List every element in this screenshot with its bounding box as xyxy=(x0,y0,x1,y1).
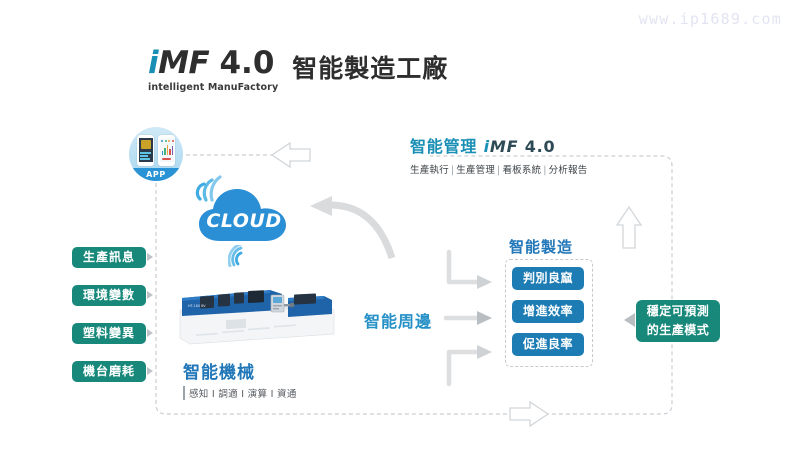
smart-management-title-cn: 智能管理 xyxy=(410,137,477,156)
phone-left-screen xyxy=(139,138,153,162)
input-arrow-2-icon xyxy=(147,329,153,337)
input-arrow-1-icon xyxy=(147,291,153,299)
input-chip-1[interactable]: 環境變數 xyxy=(72,285,146,306)
curved-arrow-to-cloud-head xyxy=(310,196,332,216)
smart-peripheral-label: 智能周邊 xyxy=(364,308,432,332)
smart-machine-caption: 智能機械 感知 I 調適 I 演算 I 資通 xyxy=(183,358,297,400)
gray-elbow-arrow-top-head xyxy=(477,275,492,289)
watermark-text: www.ip1689.com xyxy=(639,10,782,28)
wifi-signal-icon-middle xyxy=(228,245,254,267)
smart-manufacturing-title: 智能製造 xyxy=(509,236,573,257)
imf-logo-mf: MF xyxy=(158,45,209,81)
phone-left-icon xyxy=(137,135,154,166)
manufacturing-item-1[interactable]: 增進效率 xyxy=(512,300,584,323)
injection-molding-machine-icon: HT-180 BV xyxy=(172,274,338,349)
output-chip[interactable]: 穩定可預測 的生產模式 xyxy=(636,300,720,342)
app-label: APP xyxy=(129,168,183,181)
hollow-arrow-right-bottom xyxy=(510,402,548,426)
imf-logo-i: i xyxy=(148,45,158,81)
gray-elbow-arrow-bottom-head xyxy=(477,345,492,359)
smart-management-items: 生產執行|生產管理|看板系統|分析報告 xyxy=(410,162,587,176)
curved-arrow-to-cloud-tail xyxy=(330,205,392,258)
infographic-canvas: www.ip1689.com iMF 4.0 intelligent ManuF… xyxy=(0,0,800,456)
smart-machine-subtitle: 感知 I 調適 I 演算 I 資通 xyxy=(183,386,297,400)
input-arrow-3-icon xyxy=(147,367,153,375)
mgmt-logo-mf: MF xyxy=(490,137,518,156)
hollow-arrow-left-top xyxy=(272,143,310,167)
smart-management-block: 智能管理 iMF 4.0 生產執行|生產管理|看板系統|分析報告 xyxy=(410,133,587,176)
phone-right-screen xyxy=(160,138,174,162)
imf-logo: iMF 4.0 intelligent ManuFactory xyxy=(148,48,278,93)
page-title: 智能製造工廠 xyxy=(292,49,448,85)
svg-text:HT-180 BV: HT-180 BV xyxy=(188,304,206,308)
gray-elbow-arrow-bottom xyxy=(449,352,479,384)
cloud-node[interactable]: CLOUD xyxy=(196,186,292,246)
input-chip-2[interactable]: 塑料變異 xyxy=(72,323,146,344)
mgmt-item-0: 生產執行 xyxy=(410,165,449,176)
cloud-label: CLOUD xyxy=(196,210,292,232)
smart-management-title: 智能管理 iMF 4.0 xyxy=(410,133,587,157)
input-arrow-0-icon xyxy=(147,253,153,261)
mgmt-item-2: 看板系統 xyxy=(502,165,541,176)
output-arrow-icon xyxy=(624,313,635,327)
input-chip-3[interactable]: 機台磨耗 xyxy=(72,361,146,382)
manufacturing-item-2[interactable]: 促進良率 xyxy=(512,333,584,356)
hollow-arrow-up-right xyxy=(617,207,641,248)
phone-right-icon xyxy=(158,135,175,166)
app-node[interactable]: APP xyxy=(129,127,183,181)
input-chip-0[interactable]: 生產訊息 xyxy=(72,247,146,268)
mgmt-item-3: 分析報告 xyxy=(549,165,588,176)
imf-logo-version: 4.0 xyxy=(219,45,274,81)
mgmt-item-1: 生產管理 xyxy=(456,165,495,176)
smart-machine-title: 智能機械 xyxy=(183,358,297,383)
page-header: iMF 4.0 intelligent ManuFactory 智能製造工廠 xyxy=(148,48,448,93)
gray-elbow-arrow-top xyxy=(449,252,479,282)
imf-logo-main: iMF 4.0 xyxy=(148,48,278,79)
output-chip-line-1: 穩定可預測 xyxy=(636,302,720,321)
mgmt-logo-version: 4.0 xyxy=(525,137,556,156)
manufacturing-item-0[interactable]: 判別良窳 xyxy=(512,267,584,290)
output-chip-line-2: 的生產模式 xyxy=(636,321,720,340)
gray-straight-arrow-middle-head xyxy=(477,311,492,325)
imf-logo-subtitle: intelligent ManuFactory xyxy=(148,83,278,93)
